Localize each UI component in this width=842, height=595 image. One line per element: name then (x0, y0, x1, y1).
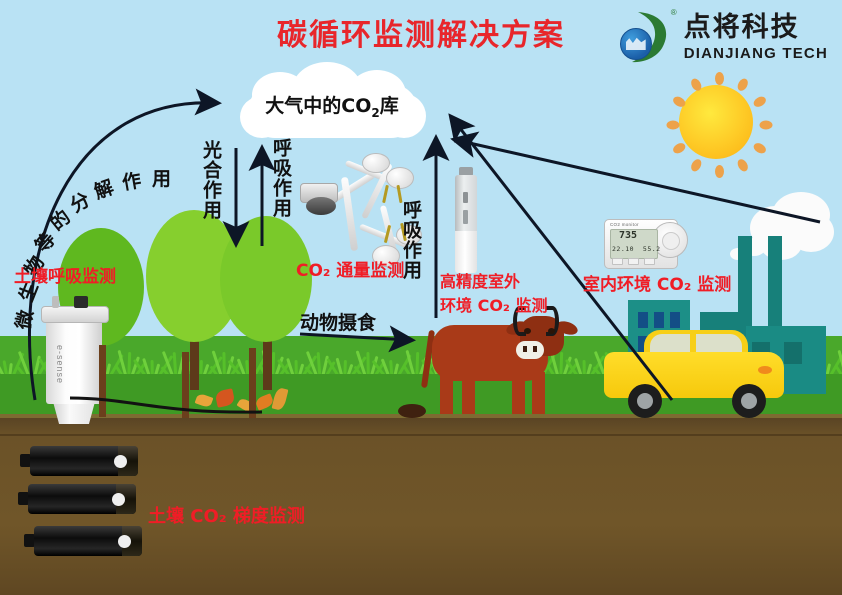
car-emission-arrow (452, 118, 672, 400)
decomposition-label-char: 作 (120, 166, 143, 196)
decomposition-label-char: 用 (152, 164, 171, 191)
factory-emission-arrow (456, 140, 820, 222)
infographic-canvas: 碳循环监测解决方案 ® 点将科技 DIANJIANG TECH 大气中的CO2库 (0, 0, 842, 595)
fence-wire (70, 398, 262, 412)
soil-respiration-label: 土壤呼吸监测 (14, 262, 116, 287)
animal-feeding-label: 动物摄食 (300, 308, 376, 335)
decomposition-label-char: 解 (90, 173, 117, 205)
decomposition-label-char: 分 (65, 185, 95, 218)
soil-gradient-label: 土壤 CO₂ 梯度监测 (148, 502, 305, 528)
respiration-tree-label: 呼吸作用 (268, 138, 295, 218)
decomposition-label-char: 的 (44, 203, 76, 236)
outdoor-co2-label-line1: 高精度室外 (440, 270, 548, 294)
outdoor-co2-label-line2: 环境 CO₂ 监测 (440, 294, 548, 318)
outdoor-co2-label: 高精度室外 环境 CO₂ 监测 (440, 270, 548, 318)
photosynthesis-label: 光合作用 (198, 140, 225, 220)
indoor-co2-label: 室内环境 CO₂ 监测 (583, 270, 731, 295)
co2-flux-label: CO₂ 通量监测 (296, 256, 404, 281)
